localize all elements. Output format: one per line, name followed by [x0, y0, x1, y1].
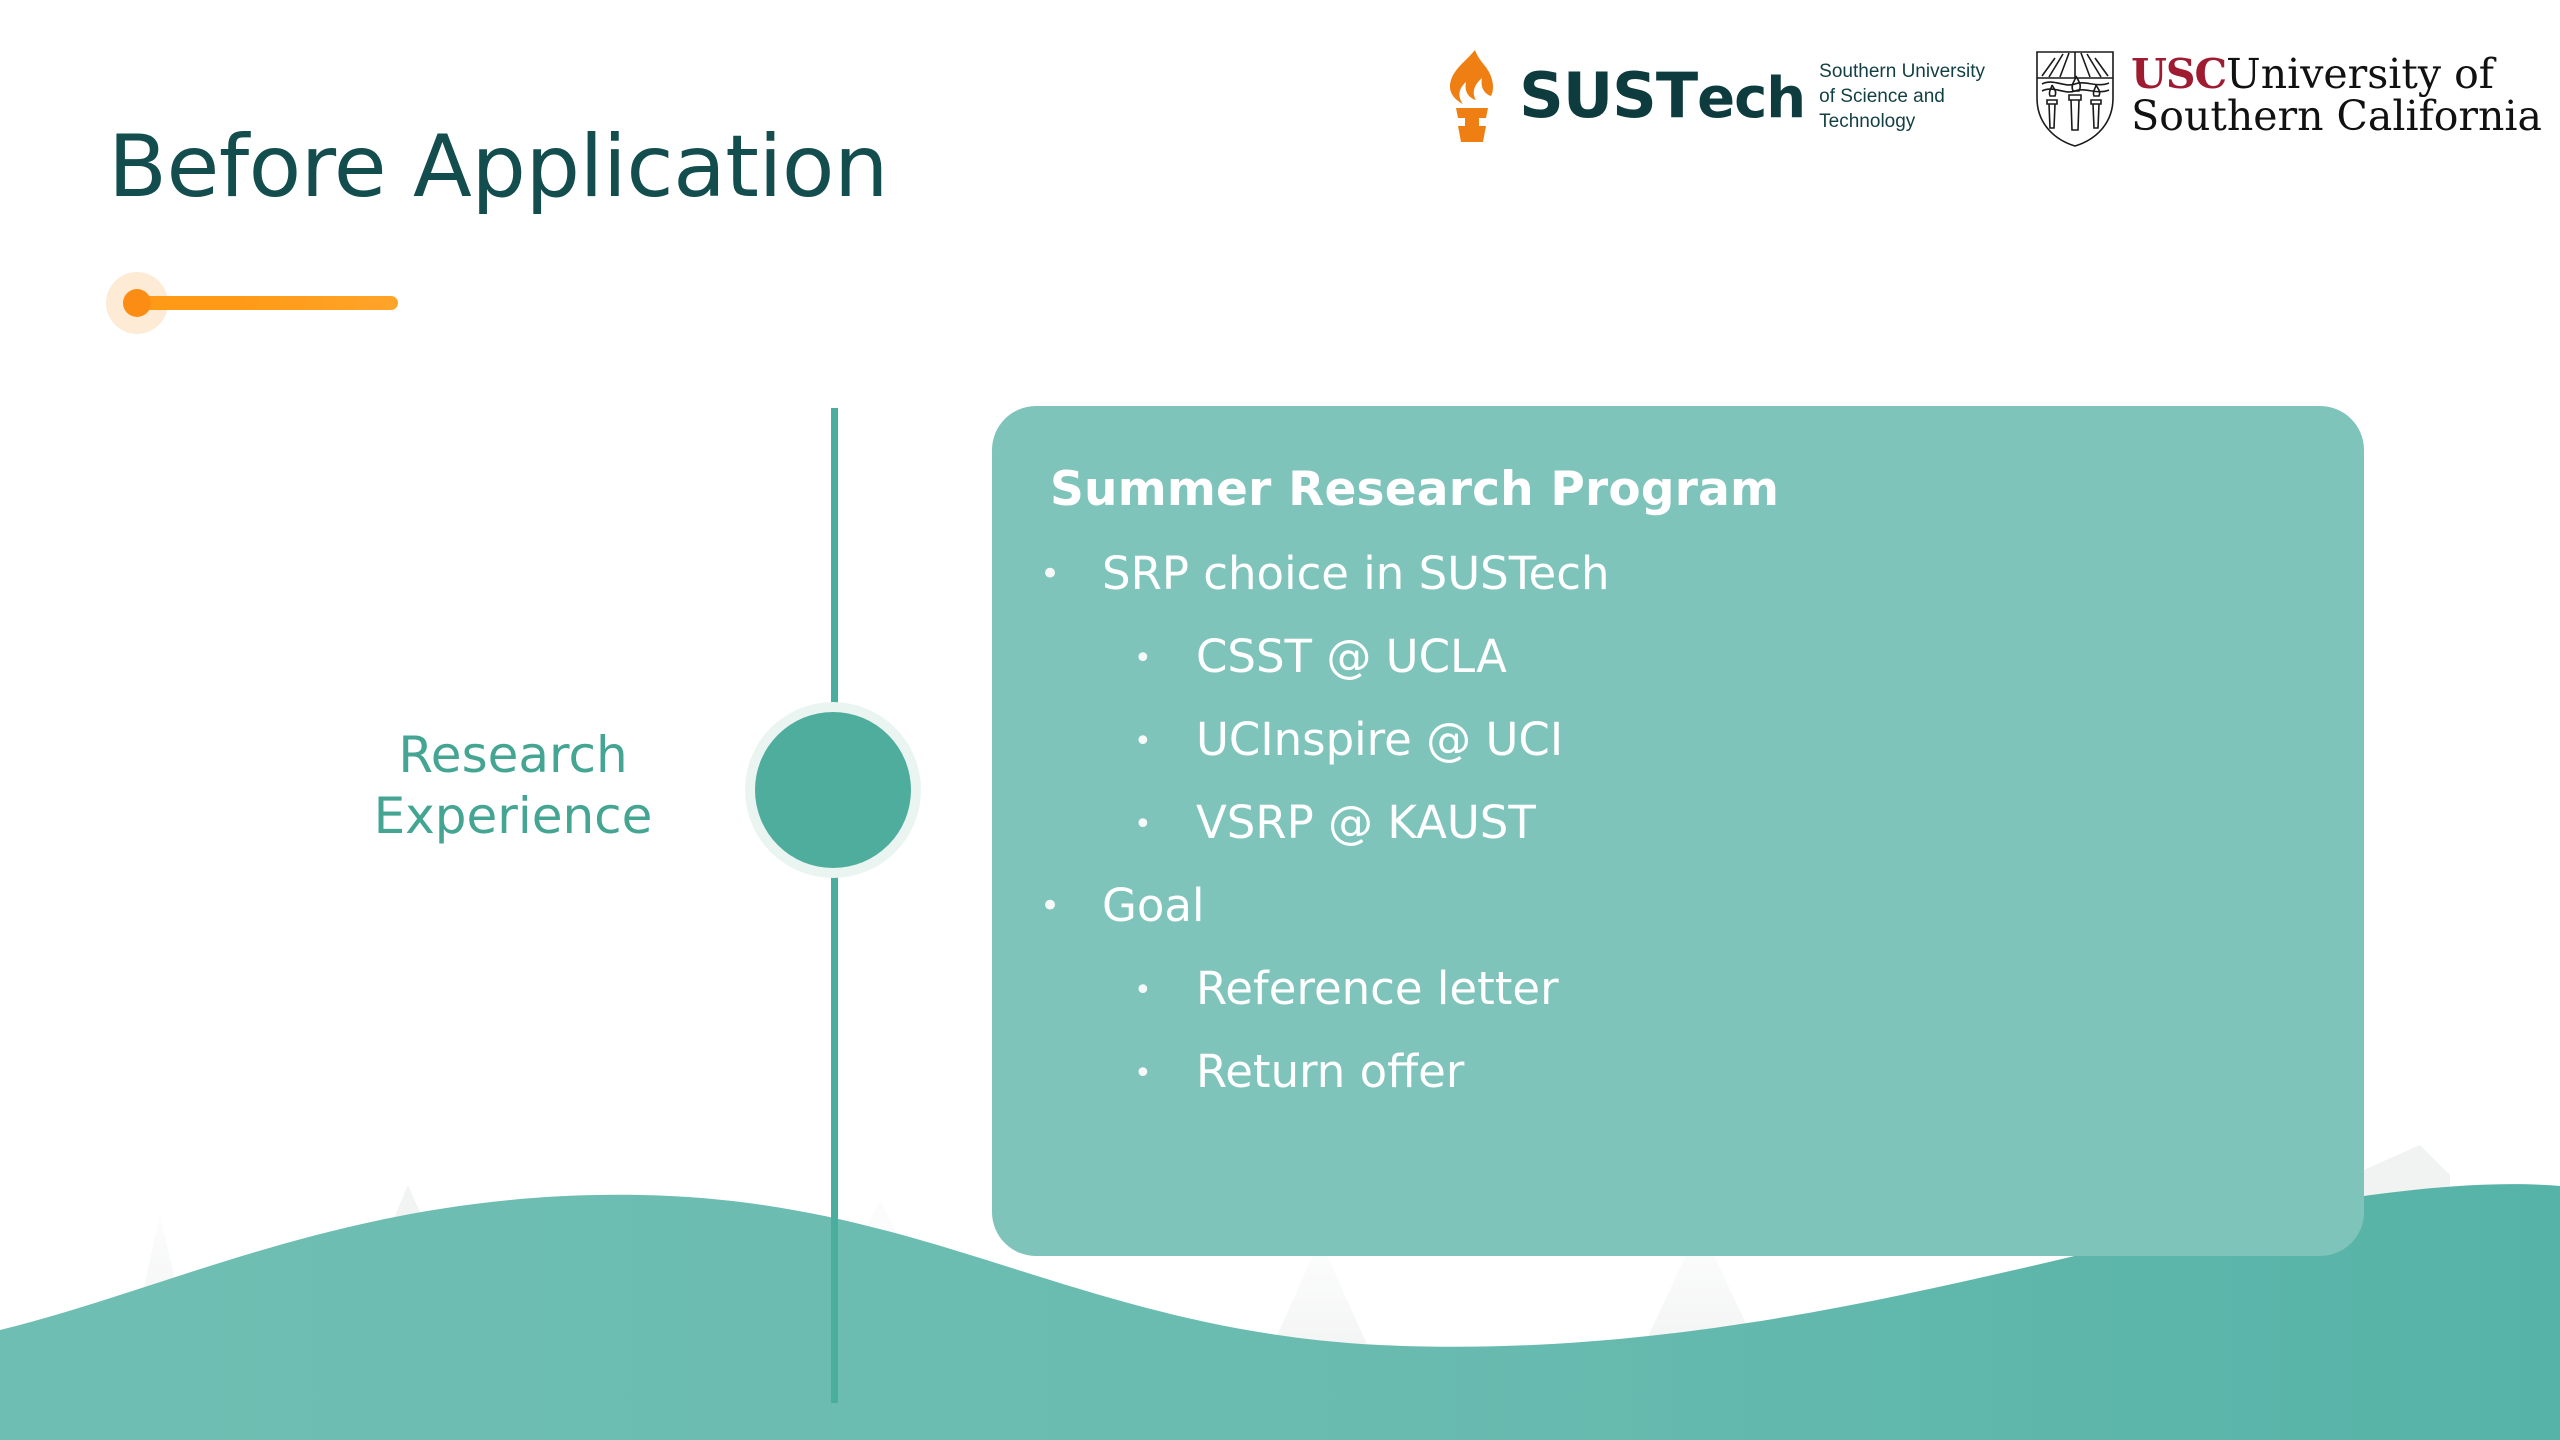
- card-bullet-label: CSST @ UCLA: [1196, 634, 1507, 679]
- bullet-dot-icon: •: [1134, 976, 1196, 1006]
- card-bullet-label: Reference letter: [1196, 966, 1559, 1011]
- card-bullet-item: •Reference letter: [1134, 966, 2304, 1011]
- timeline-axis: [831, 408, 838, 1403]
- card-heading: Summer Research Program: [1050, 462, 2304, 517]
- sustech-logo: SUSTech Southern University of Science a…: [1435, 44, 1997, 148]
- title-accent: [106, 272, 426, 334]
- sustech-torch-icon: [1435, 48, 1509, 144]
- card-bullet-item: •CSST @ UCLA: [1134, 634, 2304, 679]
- card-bullet-label: SRP choice in SUSTech: [1102, 551, 1609, 596]
- sustech-wordmark-block: SUSTech: [1519, 65, 1805, 127]
- bullet-dot-icon: •: [1134, 810, 1196, 840]
- sustech-wordmark: SUSTech: [1519, 65, 1805, 127]
- bullet-dot-icon: •: [1134, 1059, 1196, 1089]
- usc-line-2: Southern California: [2131, 96, 2542, 138]
- usc-shield-icon: [2033, 44, 2117, 148]
- card-bullet-item: •UCInspire @ UCI: [1134, 717, 2304, 762]
- bullet-dot-icon: •: [1040, 889, 1102, 923]
- timeline-node-research-experience[interactable]: [755, 712, 911, 868]
- timeline-label-line-2: Experience: [328, 786, 698, 847]
- slide-canvas: Before Application SUSTech Southern Univ…: [0, 0, 2560, 1440]
- usc-abbreviation: USC: [2131, 50, 2226, 98]
- card-bullet-list: •SRP choice in SUSTech•CSST @ UCLA•UCIns…: [1036, 551, 2304, 1094]
- bullet-dot-icon: •: [1134, 644, 1196, 674]
- card-bullet-label: VSRP @ KAUST: [1196, 800, 1536, 845]
- bullet-dot-icon: •: [1134, 727, 1196, 757]
- usc-line-1: USCUniversity of: [2131, 54, 2542, 96]
- card-bullet-item: •SRP choice in SUSTech: [1040, 551, 2304, 596]
- sustech-wordmark-lower: ech: [1697, 66, 1805, 131]
- timeline-node-label: Research Experience: [328, 725, 698, 847]
- card-bullet-item: •Return offer: [1134, 1049, 2304, 1094]
- card-bullet-label: Return offer: [1196, 1049, 1464, 1094]
- timeline-label-line-1: Research: [328, 725, 698, 786]
- card-bullet-label: Goal: [1102, 883, 1204, 928]
- tower-window-dots: [300, 1235, 403, 1302]
- content-card: Summer Research Program •SRP choice in S…: [992, 406, 2364, 1256]
- sustech-wordmark-upper: SUST: [1519, 59, 1697, 132]
- bullet-dot-icon: •: [1040, 557, 1102, 591]
- accent-bar: [128, 296, 398, 310]
- usc-logo: USCUniversity of Southern California: [2033, 43, 2542, 149]
- logo-row: SUSTech Southern University of Science a…: [1435, 38, 2542, 153]
- card-bullet-item: •VSRP @ KAUST: [1134, 800, 2304, 845]
- usc-wordmark: USCUniversity of Southern California: [2131, 54, 2542, 138]
- usc-line-1-text: University of: [2226, 50, 2494, 98]
- card-bullet-label: UCInspire @ UCI: [1196, 717, 1563, 762]
- accent-dot: [123, 289, 151, 317]
- card-bullet-item: •Goal: [1040, 883, 2304, 928]
- page-title: Before Application: [108, 124, 888, 210]
- sustech-tagline: Southern University of Science and Techn…: [1819, 59, 1997, 134]
